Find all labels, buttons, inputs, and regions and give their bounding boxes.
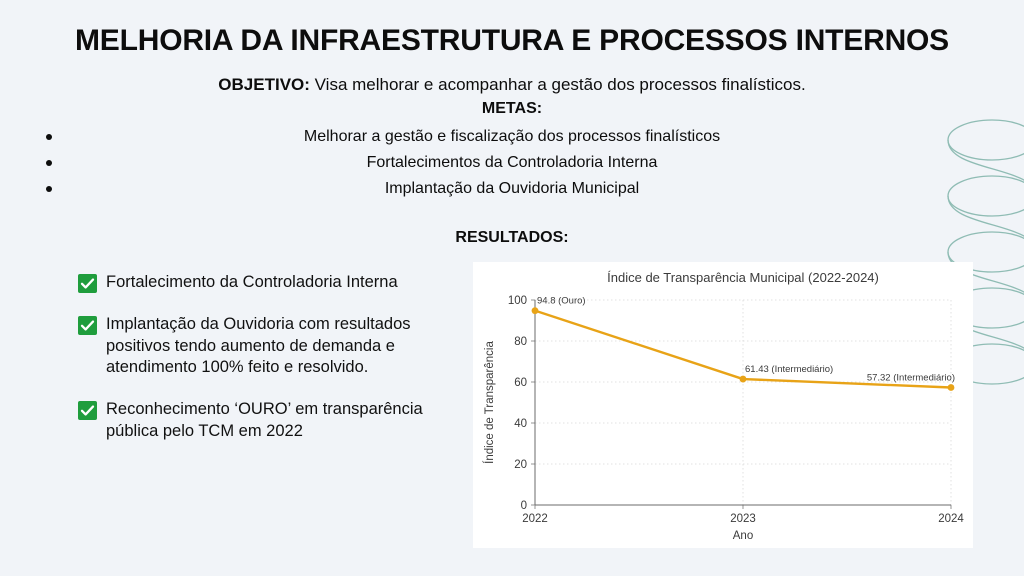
y-tick-label: 100: [508, 295, 527, 307]
page-title: MELHORIA DA INFRAESTRUTURA E PROCESSOS I…: [32, 24, 992, 57]
y-tick-label: 60: [514, 377, 527, 389]
list-item: Implantação da Ouvidoria Municipal: [0, 176, 1024, 202]
objetivo-line: OBJETIVO: Visa melhorar e acompanhar a g…: [0, 74, 1024, 97]
x-tick-label: 2022: [522, 513, 548, 525]
data-point-label: 57.32 (Intermediário): [867, 372, 955, 383]
list-item: Fortalecimento da Controladoria Interna: [78, 272, 478, 294]
list-item: Melhorar a gestão e fiscalização dos pro…: [0, 124, 1024, 150]
data-point-label: 94.8 (Ouro): [537, 296, 586, 307]
data-point: [740, 376, 747, 383]
transparency-index-line-chart: Índice de Transparência Municipal (2022-…: [473, 262, 973, 548]
y-tick-label: 0: [521, 500, 527, 512]
x-tick-label: 2024: [938, 513, 964, 525]
resultado-label: Implantação da Ouvidoria com resultados …: [106, 314, 478, 379]
x-axis-label: Ano: [733, 530, 753, 542]
chart-panel: Índice de Transparência Municipal (2022-…: [473, 262, 973, 548]
x-tick-label: 2023: [730, 513, 756, 525]
y-axis-label: Índice de Transparência: [483, 341, 496, 464]
objetivo-label: OBJETIVO:: [218, 75, 310, 94]
objetivo-text: Visa melhorar e acompanhar a gestão dos …: [310, 75, 806, 94]
bullet-icon: [46, 134, 52, 140]
check-square-icon: [78, 401, 97, 420]
list-item: Fortalecimentos da Controladoria Interna: [0, 150, 1024, 176]
resultado-label: Fortalecimento da Controladoria Interna: [106, 272, 398, 294]
resultado-label: Reconhecimento ‘OURO’ em transparência p…: [106, 399, 478, 443]
meta-label: Fortalecimentos da Controladoria Interna: [367, 154, 658, 171]
resultados-list: Fortalecimento da Controladoria Interna …: [78, 272, 478, 463]
list-item: Implantação da Ouvidoria com resultados …: [78, 314, 478, 379]
bullet-icon: [46, 160, 52, 166]
chart-title: Índice de Transparência Municipal (2022-…: [607, 270, 879, 285]
bullet-icon: [46, 186, 52, 192]
check-square-icon: [78, 274, 97, 293]
y-tick-label: 20: [514, 459, 527, 471]
list-item: Reconhecimento ‘OURO’ em transparência p…: [78, 399, 478, 443]
y-tick-label: 80: [514, 336, 527, 348]
meta-label: Melhorar a gestão e fiscalização dos pro…: [304, 128, 720, 145]
check-square-icon: [78, 316, 97, 335]
data-point: [948, 384, 955, 391]
y-tick-label: 40: [514, 418, 527, 430]
metas-list: Melhorar a gestão e fiscalização dos pro…: [0, 124, 1024, 202]
metas-heading: METAS:: [0, 100, 1024, 118]
data-point: [532, 307, 539, 314]
meta-label: Implantação da Ouvidoria Municipal: [385, 180, 639, 197]
slide-root: MELHORIA DA INFRAESTRUTURA E PROCESSOS I…: [0, 0, 1024, 576]
data-point-label: 61.43 (Intermediário): [745, 364, 833, 375]
resultados-heading: RESULTADOS:: [0, 229, 1024, 247]
